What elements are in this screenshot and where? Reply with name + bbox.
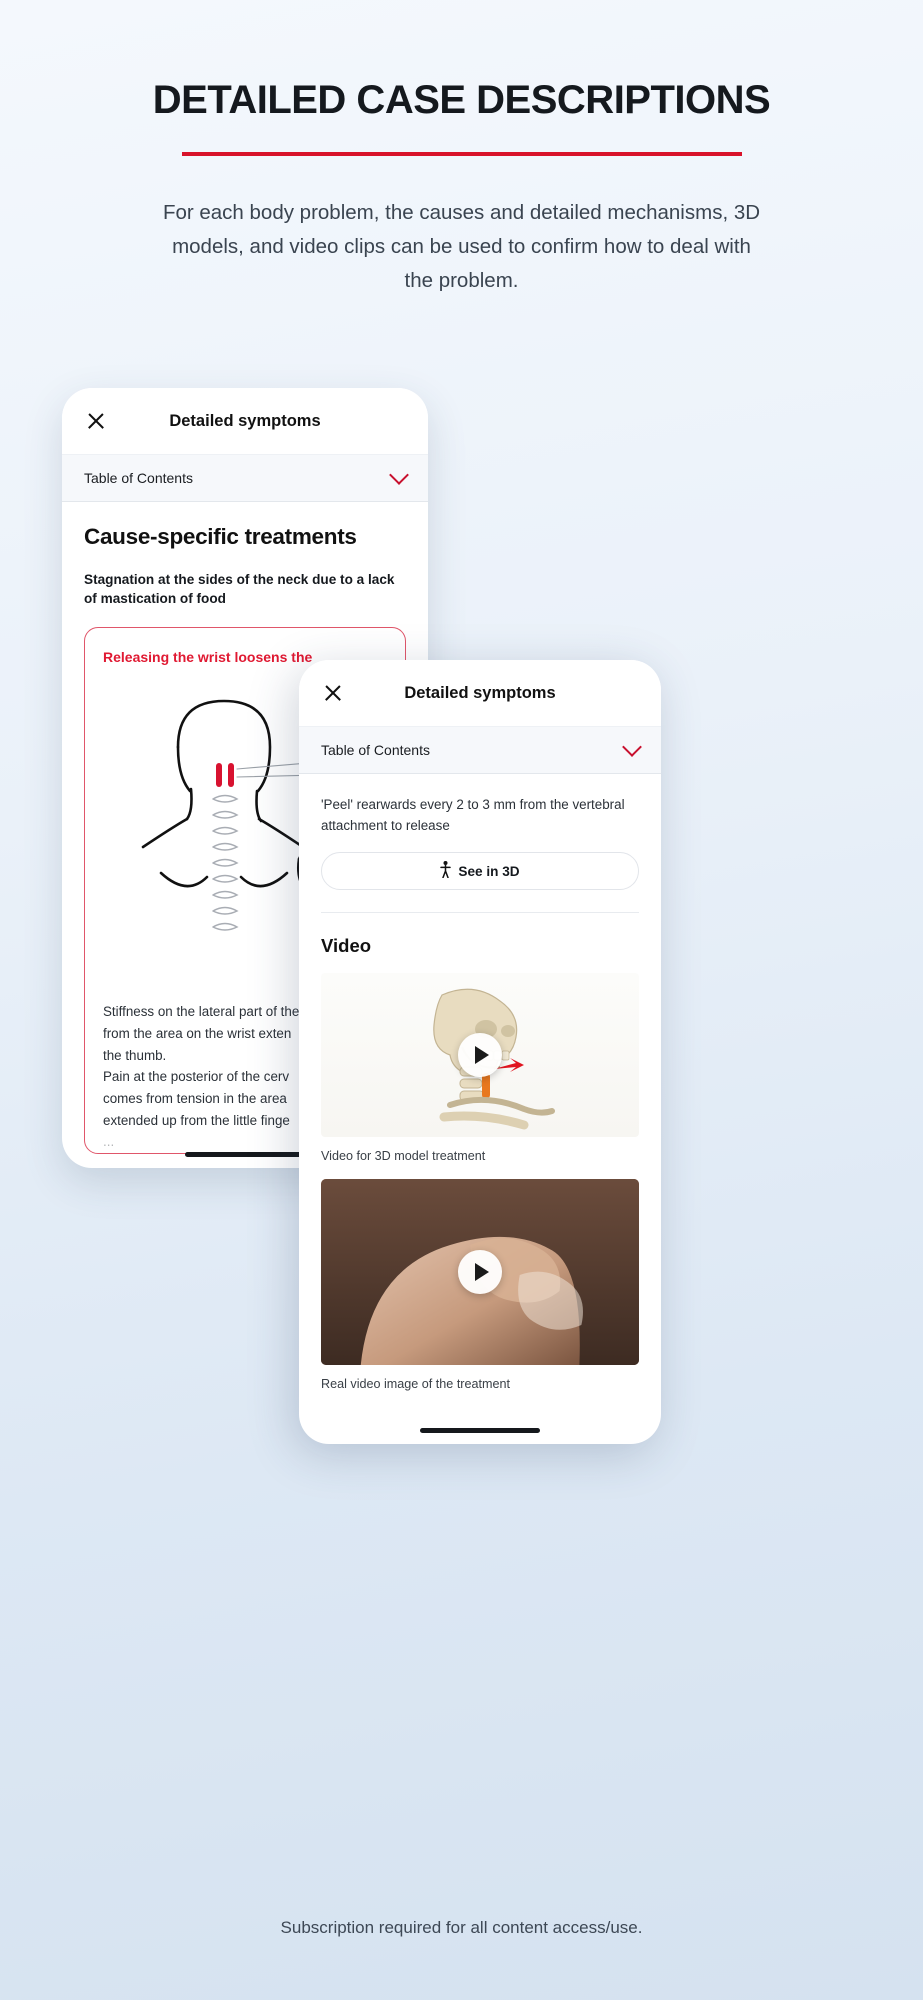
real-video-caption: Real video image of the treatment <box>321 1377 639 1391</box>
lead-text: 'Peel' rearwards every 2 to 3 mm from th… <box>321 794 639 836</box>
video-heading: Video <box>321 935 639 957</box>
app-bar-front: Detailed symptoms <box>299 660 661 726</box>
section-divider <box>321 912 639 913</box>
toc-label-back: Table of Contents <box>84 470 193 486</box>
toc-label-front: Table of Contents <box>321 742 430 758</box>
app-bar-title-front: Detailed symptoms <box>299 684 661 703</box>
close-icon[interactable] <box>86 411 106 431</box>
chevron-down-icon[interactable] <box>389 465 409 485</box>
footer-note: Subscription required for all content ac… <box>0 1918 923 1938</box>
title-underline <box>182 152 742 156</box>
cause-text: Stagnation at the sides of the neck due … <box>84 570 406 609</box>
app-bar-title-back: Detailed symptoms <box>62 412 428 431</box>
phone-body-front: 'Peel' rearwards every 2 to 3 mm from th… <box>299 794 661 1391</box>
header: DETAILED CASE DESCRIPTIONS For each body… <box>0 0 923 297</box>
app-bar-back: Detailed symptoms <box>62 388 428 454</box>
model-video-caption: Video for 3D model treatment <box>321 1149 639 1163</box>
standing-person-icon <box>440 861 451 881</box>
page-title: DETAILED CASE DESCRIPTIONS <box>0 78 923 122</box>
close-icon[interactable] <box>323 683 343 703</box>
home-indicator <box>420 1428 540 1433</box>
slide-page: DETAILED CASE DESCRIPTIONS For each body… <box>0 0 923 2000</box>
play-icon[interactable] <box>458 1250 502 1294</box>
home-indicator <box>185 1152 305 1157</box>
page-subtitle: For each body problem, the causes and de… <box>162 196 762 297</box>
play-icon[interactable] <box>458 1033 502 1077</box>
table-of-contents-bar-front[interactable]: Table of Contents <box>299 726 661 774</box>
see-in-3d-button[interactable]: See in 3D <box>321 852 639 890</box>
skull-spine-3d-model[interactable] <box>321 973 639 1137</box>
neck-treatment-photo[interactable] <box>321 1179 639 1365</box>
table-of-contents-bar-back[interactable]: Table of Contents <box>62 454 428 502</box>
see-in-3d-label: See in 3D <box>458 864 519 879</box>
section-heading-back: Cause-specific treatments <box>84 524 406 550</box>
chevron-down-icon[interactable] <box>622 737 642 757</box>
phone-card-front: Detailed symptoms Table of Contents 'Pee… <box>299 660 661 1444</box>
